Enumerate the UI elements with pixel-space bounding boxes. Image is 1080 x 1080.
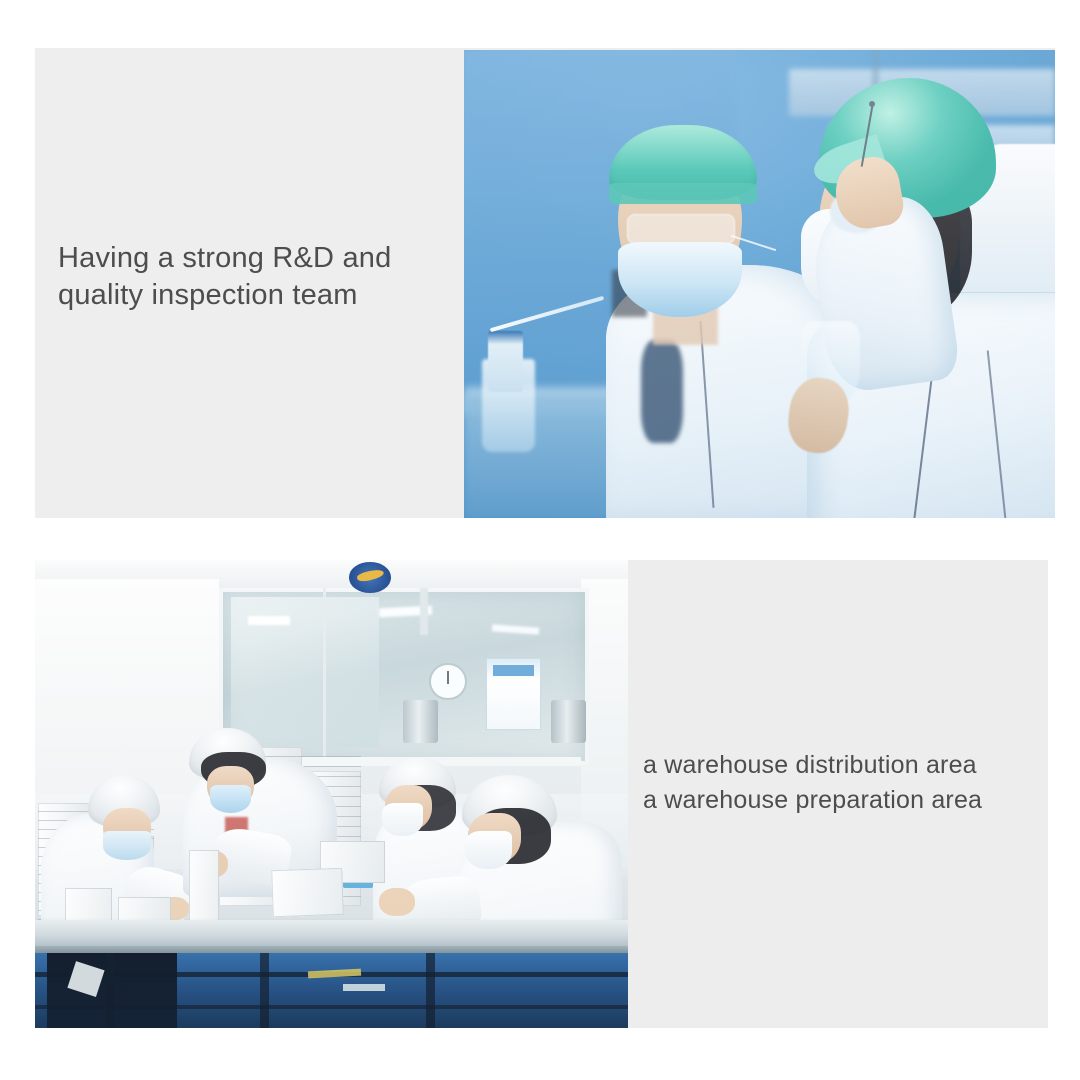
page-root: Having a strong R&D and quality inspecti…	[0, 0, 1080, 1080]
warehouse-scene	[35, 560, 628, 1028]
lab-technicians-photo	[464, 50, 1055, 518]
lab-scene	[464, 50, 1055, 518]
rnd-quality-caption: Having a strong R&D and quality inspecti…	[58, 240, 448, 314]
warehouse-packing-photo	[35, 560, 628, 1028]
warehouse-light-haze	[35, 560, 628, 1028]
warehouse-caption: a warehouse distribution area a warehous…	[643, 748, 1043, 818]
lab-light-haze	[464, 50, 1055, 518]
